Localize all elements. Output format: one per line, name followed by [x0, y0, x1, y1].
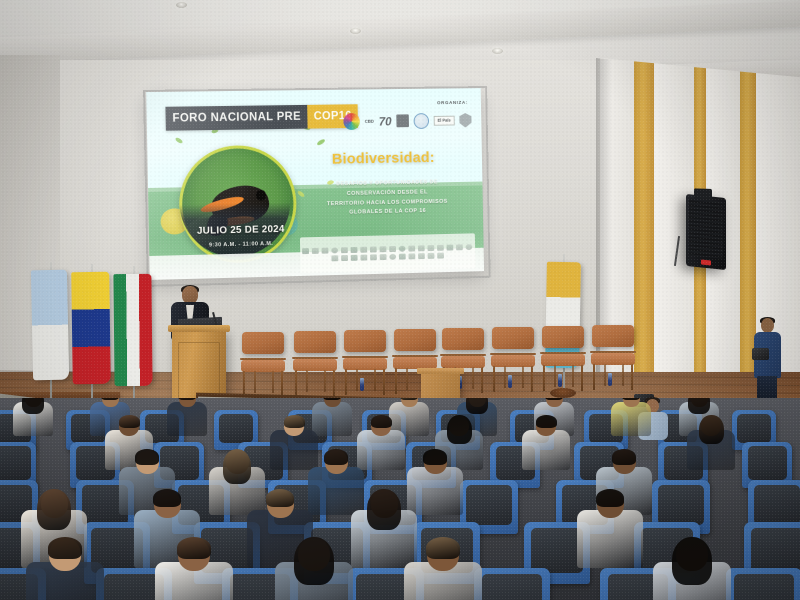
person-hair: [371, 415, 392, 428]
person-hair: [119, 415, 140, 428]
chair-leg: [481, 367, 483, 393]
podium-top: [168, 325, 230, 332]
audience-person: [13, 398, 53, 441]
chair-leg: [631, 364, 633, 390]
chair-leg: [272, 371, 274, 393]
chair-leg: [295, 370, 297, 396]
sdg-mini-icon: [457, 245, 464, 251]
audience-person: [611, 398, 651, 441]
water-bottle: [558, 374, 562, 387]
chair-leg: [374, 369, 376, 391]
audience-seat: [726, 568, 800, 600]
chair-backrest: [542, 326, 584, 348]
chair-seat: [441, 356, 485, 368]
sdg-mini-icon: [447, 245, 454, 251]
chair-backrest: [294, 331, 336, 353]
sdg-mini-icon: [332, 255, 339, 261]
person-hair: [423, 449, 447, 465]
shield-logo: [459, 113, 472, 128]
audience-person: [577, 490, 643, 576]
sdg-mini-icon: [380, 254, 387, 260]
chair-leg: [543, 365, 545, 391]
stage-chair: [540, 326, 590, 394]
chair-leg: [306, 370, 308, 392]
sdg-mini-icon: [418, 245, 425, 251]
audience-person: [26, 538, 104, 600]
audience-person: [275, 538, 353, 600]
chair-seat: [591, 353, 635, 365]
sdg-mini-icon: [361, 247, 368, 253]
chair-backrest: [492, 327, 534, 349]
slide-title-banner: FORO NACIONAL PRE COP16: [165, 104, 357, 130]
chair-seat: [541, 354, 585, 366]
person-hair: [466, 398, 487, 414]
cop16-logo: [343, 114, 360, 131]
sdg-mini-icon: [419, 253, 426, 259]
chair-leg: [554, 365, 556, 387]
seat-cushion: [658, 485, 703, 525]
person-hair: [447, 415, 472, 444]
person-hair: [223, 449, 252, 484]
stage-chair: [490, 327, 540, 395]
chair-leg: [531, 366, 533, 392]
person-hair: [367, 489, 401, 530]
sdg-mini-icon: [409, 246, 416, 252]
person-hair: [426, 537, 460, 559]
chair-seat: [293, 359, 337, 371]
person-hair: [672, 537, 712, 585]
sdg-mini-icon: [399, 254, 406, 260]
person-torso: [522, 430, 570, 470]
chair-leg: [406, 368, 408, 390]
videographer: [752, 318, 782, 396]
seventy-years-logo: 70: [379, 116, 392, 128]
sdg-mini-icon: [438, 253, 445, 259]
person-torso: [357, 430, 405, 470]
audience-seating: [0, 398, 800, 600]
chair-leg: [622, 364, 624, 386]
slide-subtitle: DESAFÍOS Y OPORTUNIDADES DECONSERVACIÓN …: [301, 178, 474, 220]
chair-seat: [241, 360, 285, 372]
organiza-label: ORGANIZA:: [437, 100, 468, 105]
sdg-mini-icon: [370, 247, 377, 253]
slide-banner-dark-text: FORO NACIONAL PRE: [165, 105, 308, 130]
ceiling-downlight: [492, 48, 503, 54]
sdg-mini-icon: [371, 254, 378, 260]
seat-cushion: [466, 485, 511, 525]
seat-cushion: [737, 414, 771, 444]
chair-leg: [522, 366, 524, 388]
sdg-mini-icon: [390, 246, 397, 252]
stage-chair: [240, 332, 290, 400]
stage-chair: [342, 330, 392, 398]
minambiente-logo: [413, 113, 429, 129]
chair-backrest: [592, 325, 634, 347]
audience-person: [357, 416, 405, 476]
chair-leg: [333, 370, 335, 396]
person-hair: [22, 398, 43, 414]
chair-seat: [491, 355, 535, 367]
sdg-mini-icon: [341, 247, 348, 253]
sdg-mini-icon: [312, 248, 319, 254]
video-camera: [752, 348, 769, 360]
seat-cushion: [482, 574, 541, 600]
seat-cushion: [219, 414, 253, 444]
person-hair: [612, 449, 636, 465]
sdg-icon-strip: [299, 234, 475, 274]
audience-seat: [474, 568, 550, 600]
seat-cushion: [531, 528, 582, 574]
sdg-mini-icon: [437, 245, 444, 251]
seat-cushion: [734, 574, 793, 600]
auditorium-photo: FORO NACIONAL PRE COP16 ORGANIZA: CBD70E…: [0, 0, 800, 600]
audience-person: [687, 416, 735, 476]
person-hair: [135, 449, 159, 465]
sdg-mini-icon: [409, 254, 416, 260]
sdg-mini-icon: [390, 254, 397, 260]
flag: [31, 270, 69, 381]
stage-chair: [590, 325, 640, 393]
person-hair: [177, 537, 211, 559]
chair-backrest: [394, 329, 436, 351]
institution-logo: [396, 115, 409, 128]
person-hair: [266, 489, 294, 507]
organizer-logo-row: CBD70El País: [343, 112, 471, 131]
sdg-mini-icon: [399, 246, 406, 252]
person-torso: [577, 510, 643, 568]
water-bottle: [608, 373, 612, 386]
chair-leg: [581, 365, 583, 391]
person-hair: [688, 398, 709, 414]
videographer-legs: [757, 376, 777, 398]
audience-person: [522, 416, 570, 476]
chair-backrest: [242, 332, 284, 354]
audience-person: [653, 538, 731, 600]
chair-leg: [281, 371, 283, 397]
wall-speaker: [686, 194, 726, 270]
slide-main-title: Biodiversidad:: [293, 149, 472, 169]
person-hair: [48, 537, 82, 559]
person-hair: [153, 489, 181, 507]
sdg-mini-icon: [351, 247, 358, 253]
water-bottle: [508, 375, 512, 388]
audience-person: [167, 398, 207, 441]
sdg-mini-icon: [380, 246, 387, 252]
person-torso: [167, 402, 207, 436]
person-hair: [324, 449, 348, 465]
chair-leg: [356, 369, 358, 391]
audience-person: [404, 538, 482, 600]
sdg-mini-icon: [303, 248, 310, 254]
seat-cushion: [754, 485, 799, 525]
videographer-head: [761, 318, 774, 333]
chair-leg: [504, 366, 506, 388]
speaker-bracket: [694, 188, 712, 199]
chair-leg: [324, 370, 326, 392]
chair-leg: [472, 367, 474, 389]
person-hair: [37, 489, 71, 530]
seat-cushion: [0, 446, 31, 480]
flag: [113, 274, 152, 386]
audience-person: [155, 538, 233, 600]
person-hair: [596, 489, 624, 507]
sdg-mini-icon: [342, 255, 349, 261]
person-hair: [699, 415, 724, 444]
person-torso: [611, 402, 651, 436]
ceiling-downlight: [176, 2, 187, 8]
chair-backrest: [344, 330, 386, 352]
projection-screen: FORO NACIONAL PRE COP16 ORGANIZA: CBD70E…: [146, 88, 484, 280]
audience-person: [312, 398, 352, 441]
sdg-mini-icon: [428, 245, 435, 251]
chair-leg: [493, 366, 495, 392]
speaker-brand-logo: [701, 259, 711, 265]
el-pais-logo: El País: [434, 116, 455, 126]
stage-chair: [292, 331, 342, 399]
sdg-mini-icon: [351, 255, 358, 261]
person-hair: [294, 537, 334, 585]
sdg-mini-icon: [466, 244, 473, 250]
person-hair: [284, 415, 305, 428]
sdg-mini-icon: [361, 255, 368, 261]
side-table-top: [417, 368, 464, 374]
chair-leg: [395, 368, 397, 394]
seat-cushion: [751, 528, 800, 574]
chair-leg: [593, 364, 595, 390]
seat-cushion: [748, 446, 787, 480]
water-bottle: [360, 378, 364, 391]
sdg-mini-icon: [332, 248, 339, 254]
sdg-mini-icon: [428, 253, 435, 259]
chair-leg: [383, 369, 385, 395]
chair-leg: [254, 371, 256, 393]
chair-backrest: [442, 328, 484, 350]
person-torso: [312, 402, 352, 436]
cbd-logo: CBD: [365, 119, 374, 124]
chair-leg: [345, 369, 347, 395]
person-hair: [536, 415, 557, 428]
speaker-grill: [689, 198, 723, 259]
ceiling-downlight: [350, 28, 361, 34]
chair-seat: [343, 358, 387, 370]
chair-leg: [604, 364, 606, 386]
chair-leg: [572, 365, 574, 387]
flag: [71, 272, 111, 385]
sdg-mini-icon: [322, 248, 329, 254]
